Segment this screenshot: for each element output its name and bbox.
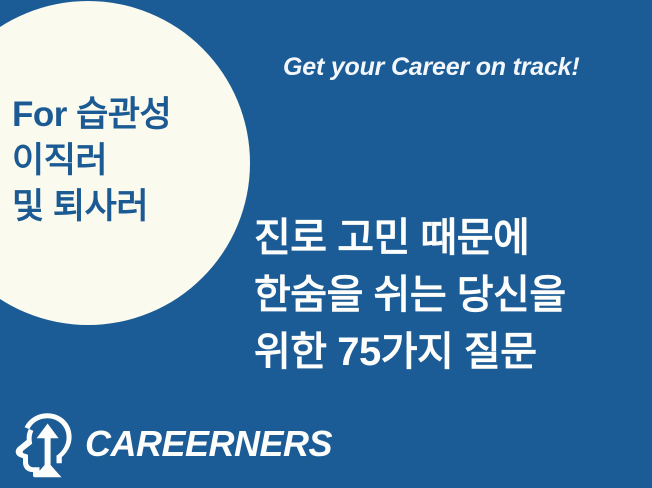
promo-banner: For 습관성 이직러 및 퇴사러 Get your Career on tra… xyxy=(0,0,652,488)
circle-headline: For 습관성 이직러 및 퇴사러 xyxy=(12,92,248,230)
circle-headline-line-3: 및 퇴사러 xyxy=(12,184,248,230)
logo-wordmark: CAREERNERS xyxy=(85,426,332,464)
tagline: Get your Career on track! xyxy=(283,53,580,82)
main-headline: 진로 고민 때문에 한숨을 쉬는 당신을 위한 75가지 질문 xyxy=(254,210,566,381)
circle-headline-line-2: 이직러 xyxy=(12,138,248,184)
head-with-up-arrow-icon xyxy=(14,412,76,478)
careerners-logo: CAREERNERS xyxy=(14,412,332,478)
main-headline-line-2: 한숨을 쉬는 당신을 xyxy=(254,267,566,324)
main-headline-line-3: 위한 75가지 질문 xyxy=(254,324,566,381)
circle-headline-line-1: For 습관성 xyxy=(12,92,248,138)
main-headline-line-1: 진로 고민 때문에 xyxy=(254,210,566,267)
